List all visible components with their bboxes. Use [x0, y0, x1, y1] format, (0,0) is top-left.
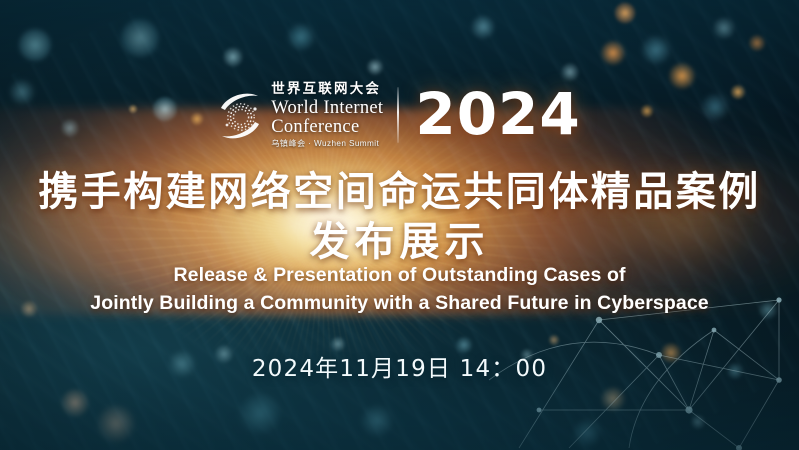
wic-ring-emblem-icon — [218, 87, 262, 143]
poster-content: 世界互联网大会 World Internet Conference 乌镇峰会 ·… — [0, 0, 799, 450]
english-line-2: Jointly Building a Community with a Shar… — [0, 290, 799, 318]
logo-english-line1: World Internet — [271, 99, 383, 118]
event-datetime: 2024年11月19日 14：00 — [0, 349, 799, 383]
english-subtitle: Release & Presentation of Outstanding Ca… — [0, 262, 799, 317]
headline-line-1: 携手构建网络空间命运共同体精品案例 — [38, 170, 761, 214]
year-label: 2024 — [415, 87, 580, 142]
header-divider — [397, 87, 399, 143]
page-title: 携手构建网络空间命运共同体精品案例 发布展示 — [0, 170, 799, 265]
logo-summit-subtitle: 乌镇峰会 · Wuzhen Summit — [271, 140, 383, 148]
english-line-1: Release & Presentation of Outstanding Ca… — [0, 262, 799, 290]
poster-canvas: 世界互联网大会 World Internet Conference 乌镇峰会 ·… — [0, 0, 799, 450]
conference-wordmark: 世界互联网大会 World Internet Conference 乌镇峰会 ·… — [271, 82, 383, 148]
conference-logo: 世界互联网大会 World Internet Conference 乌镇峰会 ·… — [218, 82, 383, 148]
logo-chinese-name: 世界互联网大会 — [271, 82, 383, 96]
logo-english-line2: Conference — [271, 118, 383, 137]
headline-line-2: 发布展示 — [0, 220, 799, 265]
poster-header: 世界互联网大会 World Internet Conference 乌镇峰会 ·… — [0, 82, 799, 148]
